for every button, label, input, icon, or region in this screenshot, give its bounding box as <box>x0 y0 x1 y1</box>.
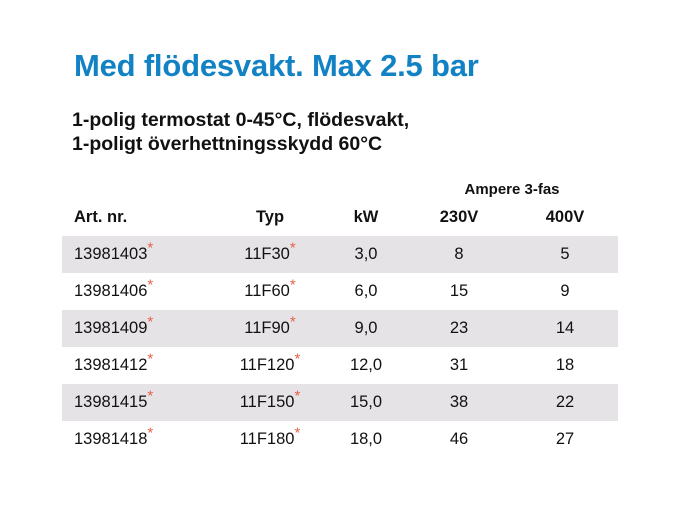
table-row: 13981412* 11F120* 12,0 31 18 <box>62 347 618 384</box>
footnote-marker-icon: * <box>147 314 153 331</box>
art-nr-value: 13981418 <box>74 430 147 448</box>
footnote-marker-icon: * <box>294 351 300 368</box>
cell-typ: 11F60* <box>214 273 326 310</box>
table-row: 13981403* 11F30* 3,0 8 5 <box>62 236 618 273</box>
cell-typ: 11F150* <box>214 384 326 421</box>
page-title: Med flödesvakt. Max 2.5 bar <box>74 48 479 84</box>
table-row: 13981418* 11F180* 18,0 46 27 <box>62 421 618 458</box>
cell-400v: 22 <box>512 384 618 421</box>
cell-art-nr: 13981412* <box>62 347 214 384</box>
cell-400v: 27 <box>512 421 618 458</box>
art-nr-value: 13981406 <box>74 282 147 300</box>
footnote-marker-icon: * <box>294 425 300 442</box>
table-header-row: Art. nr. Typ kW 230V 400V <box>62 202 618 236</box>
typ-value: 11F30 <box>244 245 290 263</box>
page-subtitle: 1-polig termostat 0-45°C, flödesvakt, 1-… <box>72 108 409 156</box>
art-nr-value: 13981412 <box>74 356 147 374</box>
group-header-ampere-3-fas: Ampere 3-fas <box>406 176 618 202</box>
footnote-marker-icon: * <box>290 277 296 294</box>
footnote-marker-icon: * <box>147 277 153 294</box>
cell-400v: 9 <box>512 273 618 310</box>
footnote-marker-icon: * <box>147 425 153 442</box>
table-row: 13981406* 11F60* 6,0 15 9 <box>62 273 618 310</box>
cell-400v: 14 <box>512 310 618 347</box>
column-header-kw: kW <box>326 202 406 236</box>
typ-value: 11F90 <box>244 319 290 337</box>
cell-typ: 11F120* <box>214 347 326 384</box>
group-header-spacer-kw <box>326 176 406 202</box>
cell-230v: 38 <box>406 384 512 421</box>
typ-value: 11F120 <box>240 356 295 374</box>
cell-kw: 3,0 <box>326 236 406 273</box>
subtitle-line-2: 1-poligt överhettningsskydd 60°C <box>72 132 409 156</box>
footnote-marker-icon: * <box>290 240 296 257</box>
table-group-header-row: Ampere 3-fas <box>62 176 618 202</box>
cell-kw: 18,0 <box>326 421 406 458</box>
footnote-marker-icon: * <box>290 314 296 331</box>
cell-typ: 11F90* <box>214 310 326 347</box>
cell-230v: 8 <box>406 236 512 273</box>
column-header-art-nr: Art. nr. <box>62 202 214 236</box>
cell-400v: 18 <box>512 347 618 384</box>
table-row: 13981415* 11F150* 15,0 38 22 <box>62 384 618 421</box>
typ-value: 11F60 <box>244 282 290 300</box>
product-spec-page: Med flödesvakt. Max 2.5 bar 1-polig term… <box>0 0 700 524</box>
cell-art-nr: 13981403* <box>62 236 214 273</box>
spec-table: Ampere 3-fas Art. nr. Typ kW 230V 400V 1… <box>62 176 618 458</box>
column-header-typ: Typ <box>214 202 326 236</box>
footnote-marker-icon: * <box>147 388 153 405</box>
cell-typ: 11F30* <box>214 236 326 273</box>
spec-table-container: Ampere 3-fas Art. nr. Typ kW 230V 400V 1… <box>62 176 618 458</box>
footnote-marker-icon: * <box>294 388 300 405</box>
group-header-spacer-art <box>62 176 214 202</box>
footnote-marker-icon: * <box>147 240 153 257</box>
spec-table-body: 13981403* 11F30* 3,0 8 5 13981406* 11F60… <box>62 236 618 458</box>
cell-art-nr: 13981415* <box>62 384 214 421</box>
cell-art-nr: 13981406* <box>62 273 214 310</box>
typ-value: 11F150 <box>240 393 295 411</box>
cell-kw: 12,0 <box>326 347 406 384</box>
table-row: 13981409* 11F90* 9,0 23 14 <box>62 310 618 347</box>
column-header-230v: 230V <box>406 202 512 236</box>
subtitle-line-1: 1-polig termostat 0-45°C, flödesvakt, <box>72 109 409 131</box>
cell-230v: 23 <box>406 310 512 347</box>
cell-230v: 15 <box>406 273 512 310</box>
cell-art-nr: 13981409* <box>62 310 214 347</box>
column-header-400v: 400V <box>512 202 618 236</box>
cell-art-nr: 13981418* <box>62 421 214 458</box>
cell-kw: 15,0 <box>326 384 406 421</box>
footnote-marker-icon: * <box>147 351 153 368</box>
art-nr-value: 13981403 <box>74 245 147 263</box>
typ-value: 11F180 <box>240 430 295 448</box>
spec-table-head: Ampere 3-fas Art. nr. Typ kW 230V 400V <box>62 176 618 236</box>
cell-230v: 31 <box>406 347 512 384</box>
cell-230v: 46 <box>406 421 512 458</box>
cell-typ: 11F180* <box>214 421 326 458</box>
group-header-spacer-typ <box>214 176 326 202</box>
art-nr-value: 13981409 <box>74 319 147 337</box>
cell-kw: 9,0 <box>326 310 406 347</box>
cell-kw: 6,0 <box>326 273 406 310</box>
cell-400v: 5 <box>512 236 618 273</box>
art-nr-value: 13981415 <box>74 393 147 411</box>
